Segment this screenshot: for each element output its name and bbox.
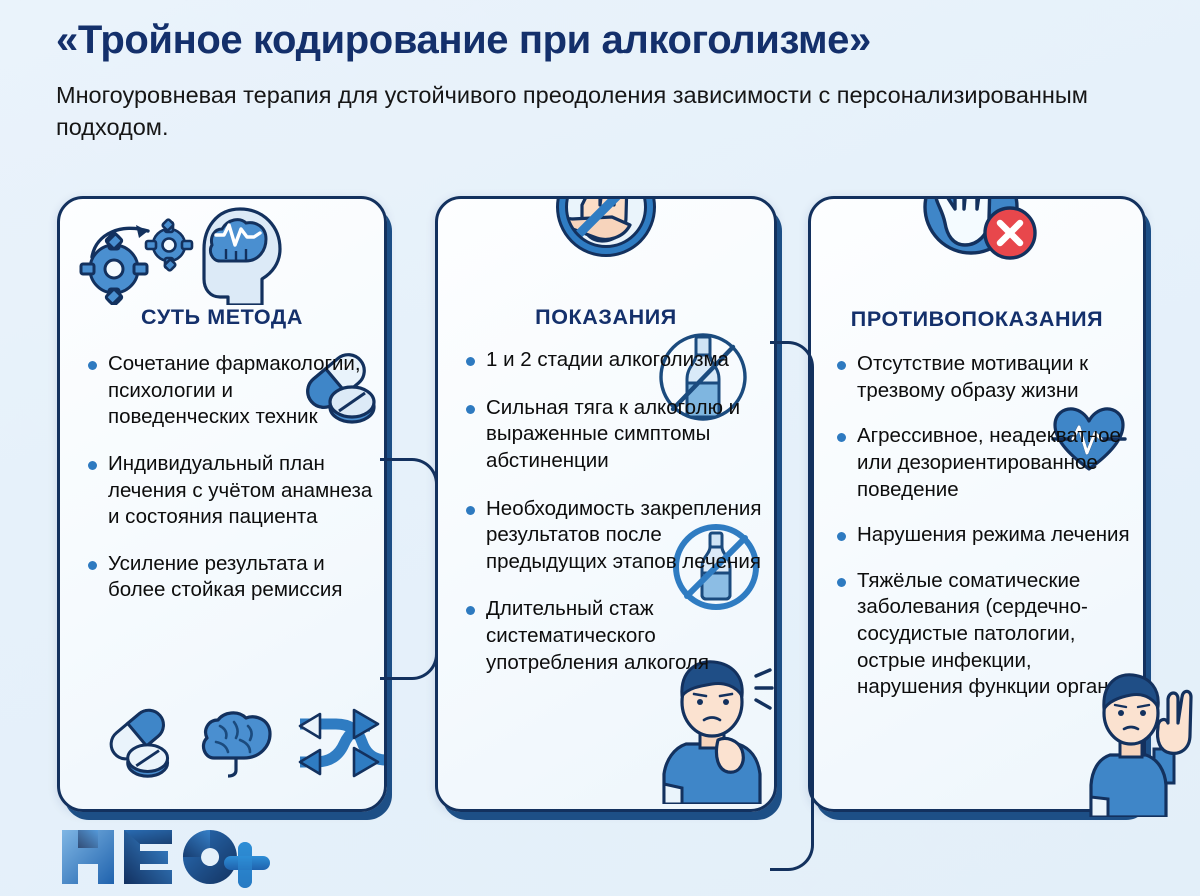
connector-card1-card2 bbox=[380, 458, 438, 680]
page-subtitle: Многоуровневая терапия для устойчивого п… bbox=[56, 80, 1131, 144]
connector-card2-card3 bbox=[770, 341, 814, 871]
list-item: Тяжёлые соматические заболевания (сердеч… bbox=[835, 568, 1139, 701]
list-item: Необходимость закрепления результатов по… bbox=[464, 496, 764, 576]
card-indications-bullets: 1 и 2 стадии алкоголизма Сильная тяга к … bbox=[464, 347, 764, 697]
stop-hand-cross-icon bbox=[915, 199, 1039, 272]
gears-brain-head-icon bbox=[74, 205, 290, 310]
list-item: Индивидуальный план лечения с учётом ана… bbox=[86, 451, 378, 531]
list-item: Усиление результата и более стойкая реми… bbox=[86, 551, 378, 604]
card-essence-bullets: Сочетание фармакологии, психологии и пов… bbox=[86, 351, 378, 624]
no-hand-prohibition-icon bbox=[552, 199, 660, 266]
list-item: Агрессивное, неадекватное или дезориенти… bbox=[835, 423, 1139, 503]
card-deck: СУТЬ МЕТОДА Сочетание фармакологии, псих… bbox=[0, 196, 1200, 822]
card-essence-title: СУТЬ МЕТОДА bbox=[60, 305, 384, 330]
card-essence-bottom-icons bbox=[100, 706, 384, 785]
list-item: Отсутствие мотивации к трезвому образу ж… bbox=[835, 351, 1139, 404]
shuffle-arrows-icon bbox=[294, 706, 384, 785]
card-contraindications-bullets: Отсутствие мотивации к трезвому образу ж… bbox=[835, 351, 1139, 720]
page-title: «Тройное кодирование при алкоголизме» bbox=[56, 18, 1156, 63]
card-contraindications[interactable]: ПРОТИВОПОКАЗАНИЯ Отсутствие мотивации к … bbox=[808, 196, 1146, 812]
list-item: Длительный стаж систематического употреб… bbox=[464, 596, 764, 676]
logo-mark bbox=[58, 826, 274, 888]
list-item: Нарушения режима лечения bbox=[835, 522, 1139, 549]
list-item: 1 и 2 стадии алкоголизма bbox=[464, 347, 764, 374]
card-contraindications-title: ПРОТИВОПОКАЗАНИЯ bbox=[811, 307, 1143, 332]
neo-plus-logo[interactable] bbox=[58, 826, 274, 888]
card-indications-title: ПОКАЗАНИЯ bbox=[438, 305, 774, 330]
list-item: Сочетание фармакологии, психологии и пов… bbox=[86, 351, 378, 431]
card-essence[interactable]: СУТЬ МЕТОДА Сочетание фармакологии, псих… bbox=[57, 196, 387, 812]
brain-icon bbox=[200, 706, 276, 785]
pills-icon bbox=[100, 706, 182, 785]
card-indications[interactable]: ПОКАЗАНИЯ bbox=[435, 196, 777, 812]
page-header: «Тройное кодирование при алкоголизме» Мн… bbox=[56, 18, 1156, 144]
list-item: Сильная тяга к алкоголю и выраженные сим… bbox=[464, 395, 764, 475]
